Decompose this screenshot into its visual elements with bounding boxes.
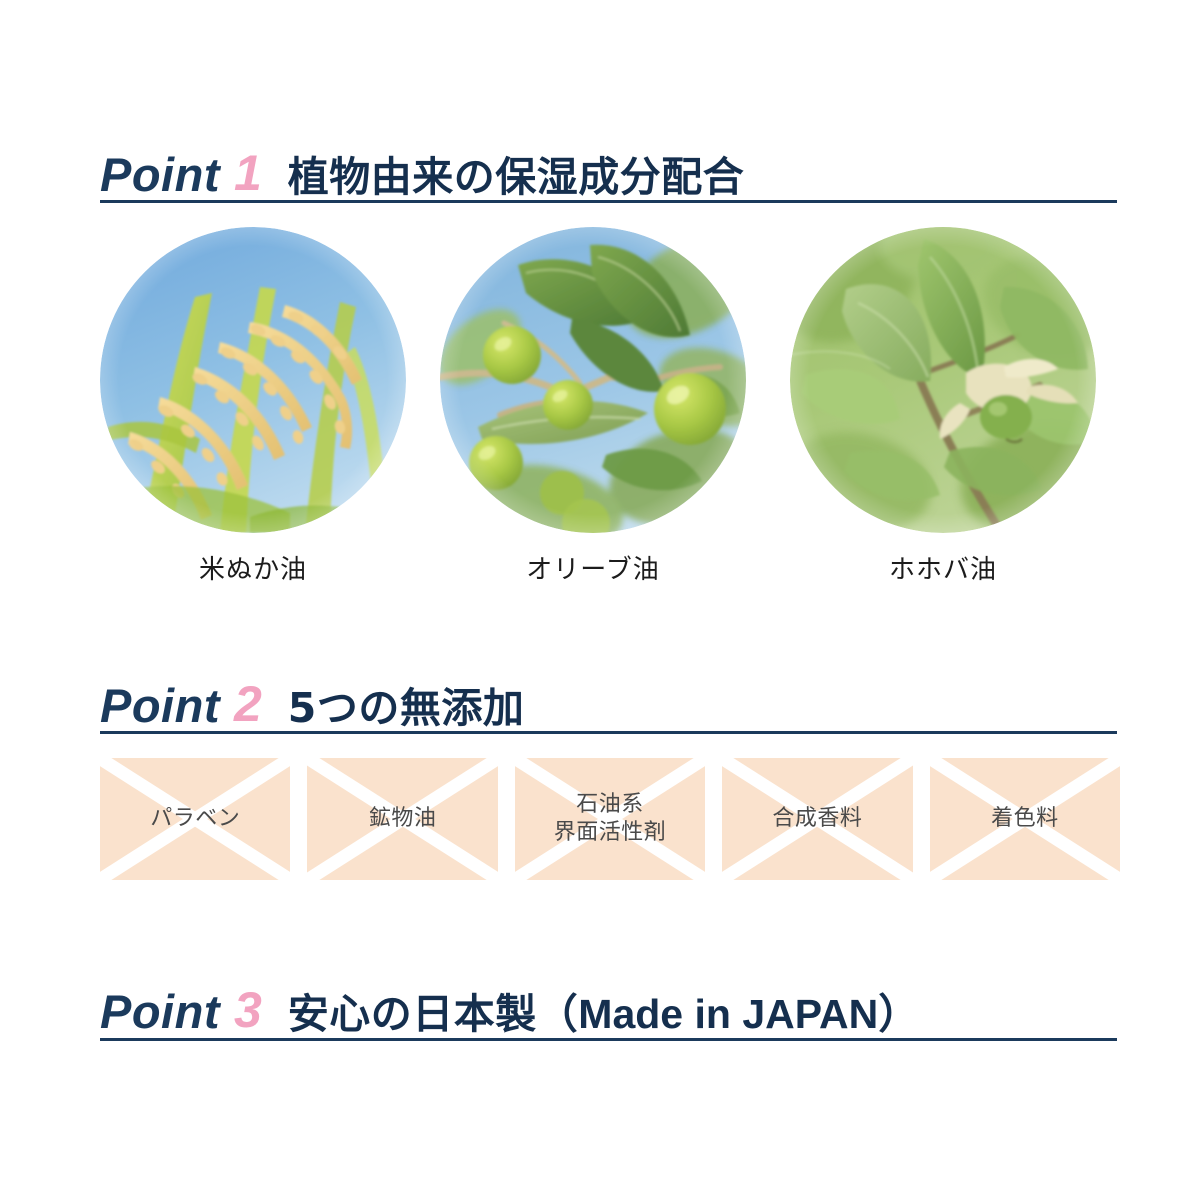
free-from-item-synthetic-fragrance: 合成香料 [722,758,912,880]
section-divider [100,200,1117,203]
section-title-jp-close: ） [878,990,920,1038]
section-title: 5つの無添加 [288,688,525,729]
free-from-list: パラベン 鉱物油 石油系 界面活性剤 合成香料 着色料 [100,758,1120,880]
ingredient-item: 米ぬか油 [100,227,406,533]
section-title-latin: Made in JAPAN [578,991,878,1037]
section-title: 安心の日本製（Made in JAPAN） [288,994,920,1035]
ingredient-caption: ホホバ油 [790,549,1096,586]
free-from-label: 着色料 [991,805,1059,833]
ingredient-circle-list: 米ぬか油 [100,227,1120,537]
section-point-1: Point 1 植物由来の保湿成分配合 [0,126,1200,198]
jojoba-plant-photo [790,227,1096,533]
point-word: Point [100,682,220,729]
point-word: Point [100,988,220,1035]
heading-point-1: Point 1 植物由来の保湿成分配合 [0,126,1200,198]
free-from-label: 合成香料 [772,805,862,833]
free-from-item-colorant: 着色料 [930,758,1120,880]
free-from-item-petroleum-surfactant: 石油系 界面活性剤 [515,758,705,880]
free-from-label: 石油系 界面活性剤 [554,791,667,847]
section-title-jp: 安心の日本製（ [288,990,579,1038]
free-from-label: パラベン [150,805,240,833]
ingredient-caption: 米ぬか油 [100,549,406,586]
section-divider [100,1038,1117,1041]
ingredient-caption: オリーブ油 [440,549,746,586]
section-title: 植物由来の保湿成分配合 [288,157,745,198]
heading-point-2: Point 2 5つの無添加 [0,657,1200,729]
point-number: 1 [234,148,262,198]
point-number: 3 [234,985,262,1035]
free-from-item-paraben: パラベン [100,758,290,880]
section-point-3: Point 3 安心の日本製（Made in JAPAN） [0,963,1200,1035]
rice-plant-photo [100,227,406,533]
point-word: Point [100,151,220,198]
ingredient-item: オリーブ油 [440,227,746,533]
olive-branch-photo [440,227,746,533]
section-point-2: Point 2 5つの無添加 [0,657,1200,729]
infographic-page: Point 1 植物由来の保湿成分配合 [0,0,1200,1200]
section-divider [100,731,1117,734]
heading-point-3: Point 3 安心の日本製（Made in JAPAN） [0,963,1200,1035]
ingredient-item: ホホバ油 [790,227,1096,533]
point-number: 2 [234,679,262,729]
free-from-label: 鉱物油 [369,805,437,833]
free-from-item-mineral-oil: 鉱物油 [307,758,497,880]
